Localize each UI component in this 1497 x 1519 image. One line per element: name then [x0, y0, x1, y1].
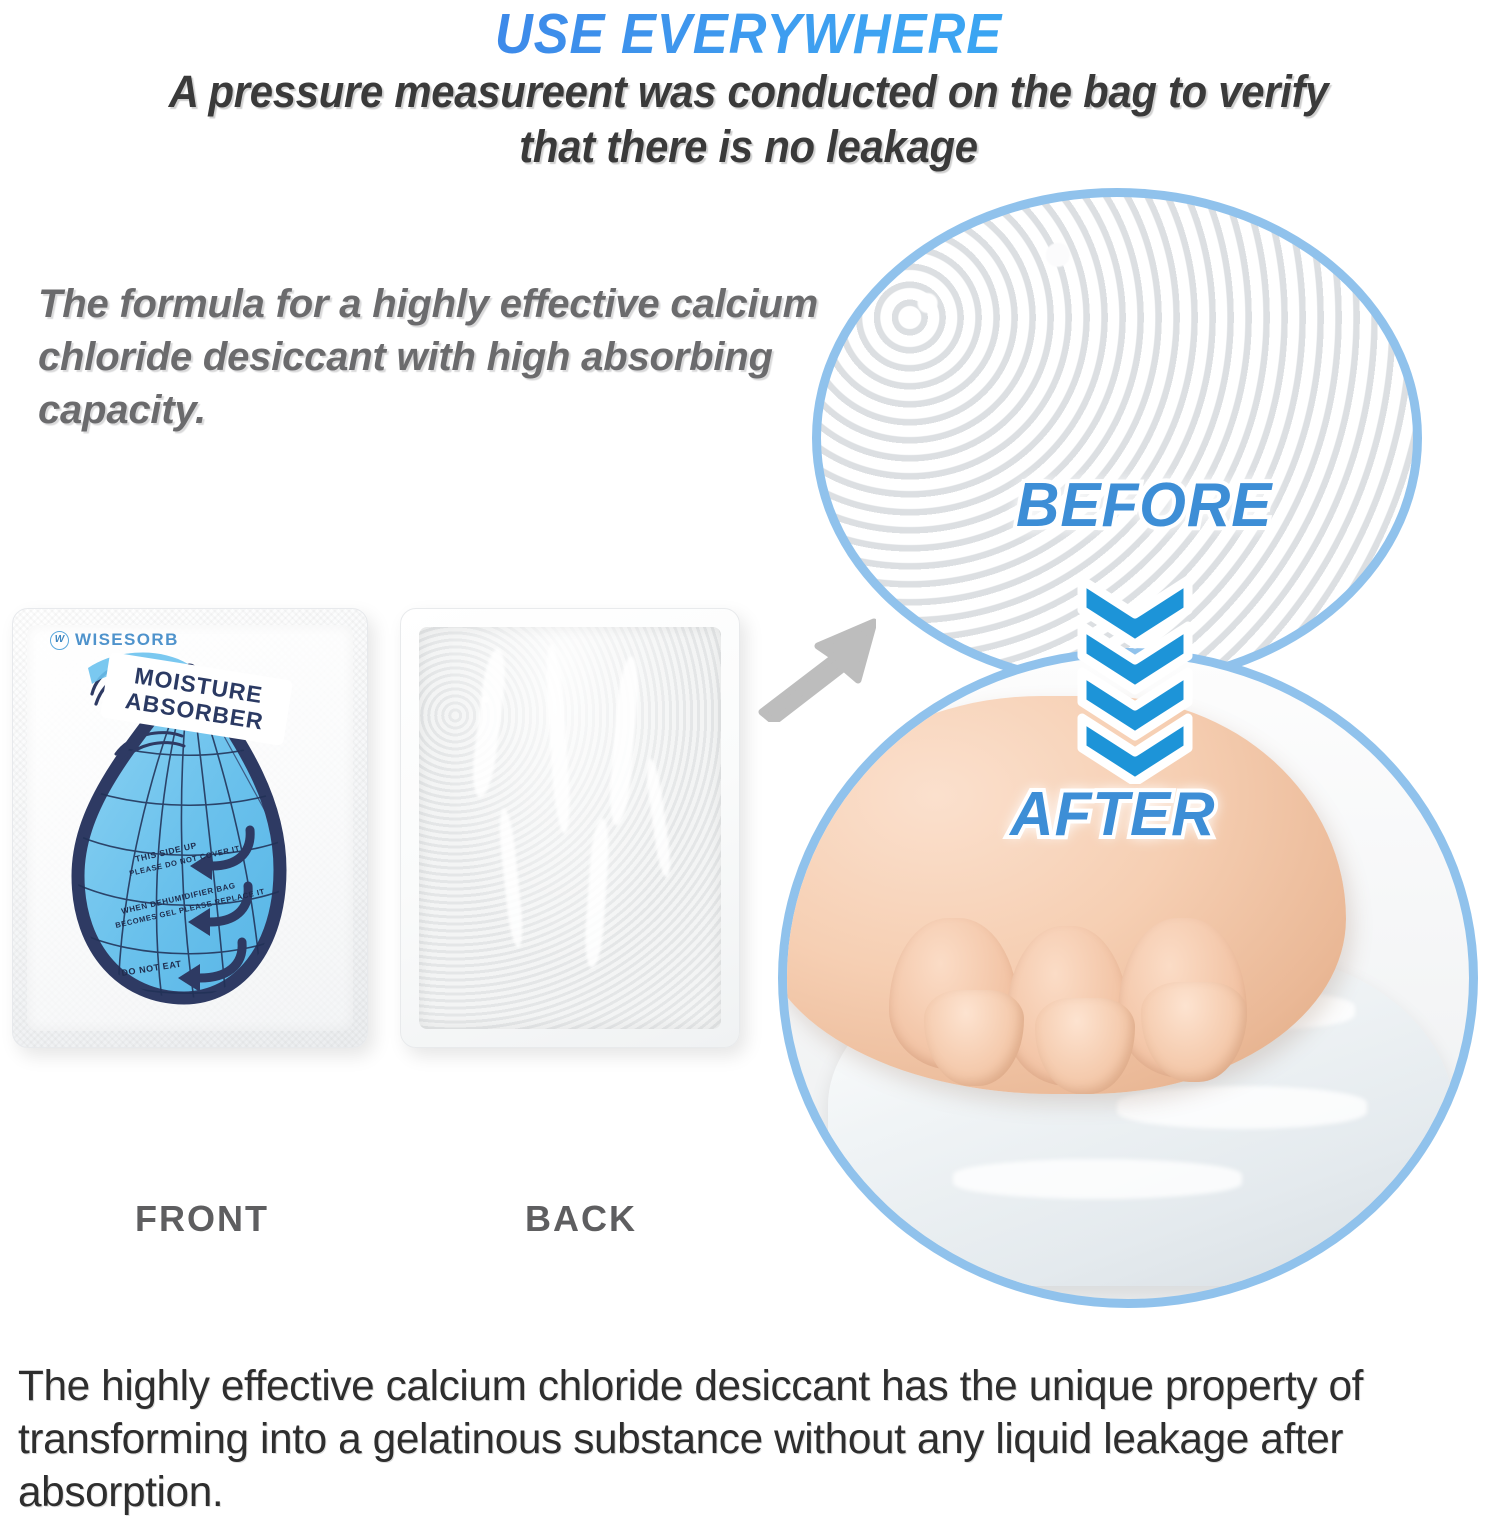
- brand-logo: W WISESORB: [50, 630, 179, 650]
- wisesorb-mark-icon: W: [50, 631, 69, 650]
- product-back-image: [400, 608, 740, 1048]
- after-label: AFTER: [1010, 779, 1215, 850]
- before-label: BEFORE: [1016, 470, 1272, 541]
- caption-front: FRONT: [135, 1198, 269, 1240]
- page-subtitle: A pressure measureent was conducted on t…: [52, 64, 1444, 174]
- back-sachet: [400, 608, 740, 1048]
- product-front-image: THIS SIDE UP PLEASE DO NOT COVER IT WHEN…: [12, 608, 368, 1048]
- footer-paragraph: The highly effective calcium chloride de…: [18, 1360, 1461, 1519]
- caption-back: BACK: [525, 1198, 637, 1240]
- intro-paragraph: The formula for a highly effective calci…: [38, 278, 818, 437]
- brand-name: WISESORB: [75, 630, 179, 650]
- hand-pressing: [778, 696, 1346, 1094]
- down-chevron-group-icon: [1068, 576, 1202, 784]
- pointer-arrow-icon: [756, 616, 876, 722]
- header-block: USE EVERYWHERE A pressure measureent was…: [0, 0, 1497, 175]
- page-title: USE EVERYWHERE: [60, 0, 1437, 64]
